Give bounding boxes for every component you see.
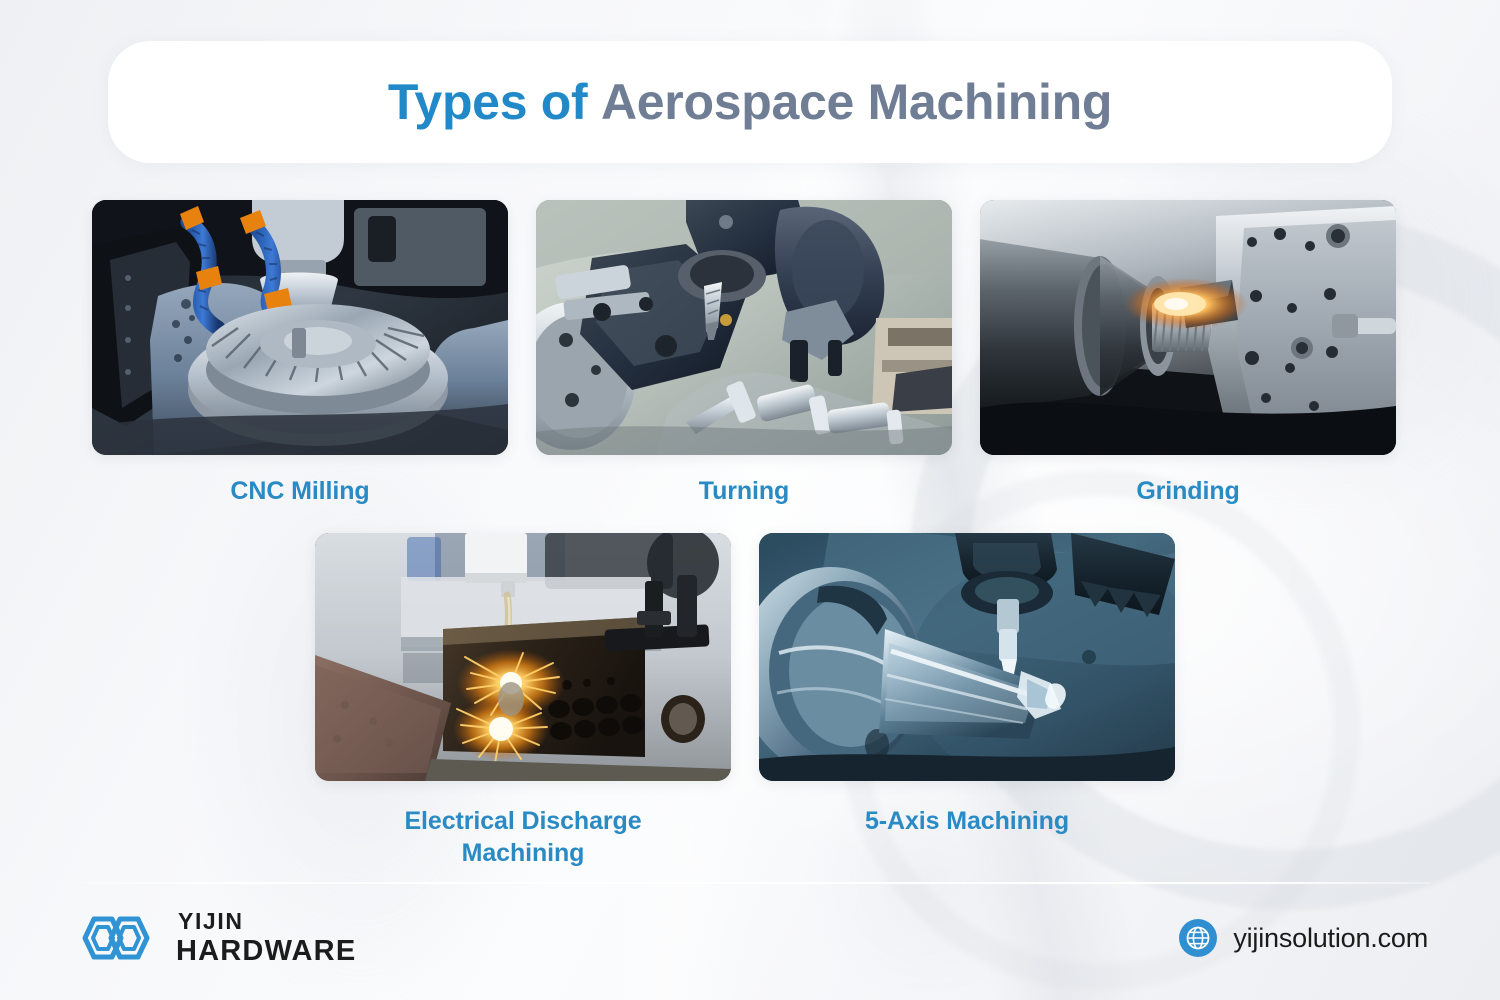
card-row-bottom: Electrical Discharge Machining (315, 533, 1185, 869)
footer-divider (70, 882, 1430, 884)
card-turning[interactable]: Turning (536, 200, 952, 507)
card-label-edm-line1: Electrical Discharge (404, 807, 641, 835)
card-label-cnc-milling: CNC Milling (230, 475, 369, 507)
page-title-rest: Aerospace Machining (601, 74, 1112, 130)
card-5-axis[interactable]: 5-Axis Machining (759, 533, 1175, 869)
footer: YIJIN HARDWARE yijinsolution.com (0, 893, 1500, 983)
photo-turning (536, 200, 952, 455)
card-label-edm-line2: Machining (462, 839, 585, 867)
photo-grinding (980, 200, 1396, 455)
card-label-turning: Turning (699, 475, 789, 507)
title-banner: Types of Aerospace Machining (108, 41, 1392, 163)
card-label-5-axis: 5-Axis Machining (865, 805, 1069, 837)
photo-5-axis (759, 533, 1175, 781)
brand-name-bottom: HARDWARE (176, 937, 356, 966)
brand-text: YIJIN HARDWARE (176, 910, 356, 966)
card-grinding[interactable]: Grinding (980, 200, 1396, 507)
card-cnc-milling[interactable]: CNC Milling (92, 200, 508, 507)
card-label-edm: Electrical Discharge Machining (404, 805, 641, 869)
brand-lockup[interactable]: YIJIN HARDWARE (72, 910, 356, 966)
card-edm[interactable]: Electrical Discharge Machining (315, 533, 731, 869)
infinity-hexagon-logo-icon (72, 913, 160, 963)
photo-cnc-milling (92, 200, 508, 455)
website-url-text: yijinsolution.com (1233, 923, 1428, 954)
infographic-page: Types of Aerospace Machining (0, 0, 1500, 1000)
card-row-top: CNC Milling (92, 200, 1408, 507)
page-title-accent: Types of (388, 74, 587, 130)
brand-name-top: YIJIN (176, 910, 356, 933)
card-label-grinding: Grinding (1136, 475, 1239, 507)
website-link[interactable]: yijinsolution.com (1179, 919, 1428, 957)
page-title: Types of Aerospace Machining (388, 77, 1112, 127)
globe-icon (1179, 919, 1217, 957)
photo-edm (315, 533, 731, 781)
